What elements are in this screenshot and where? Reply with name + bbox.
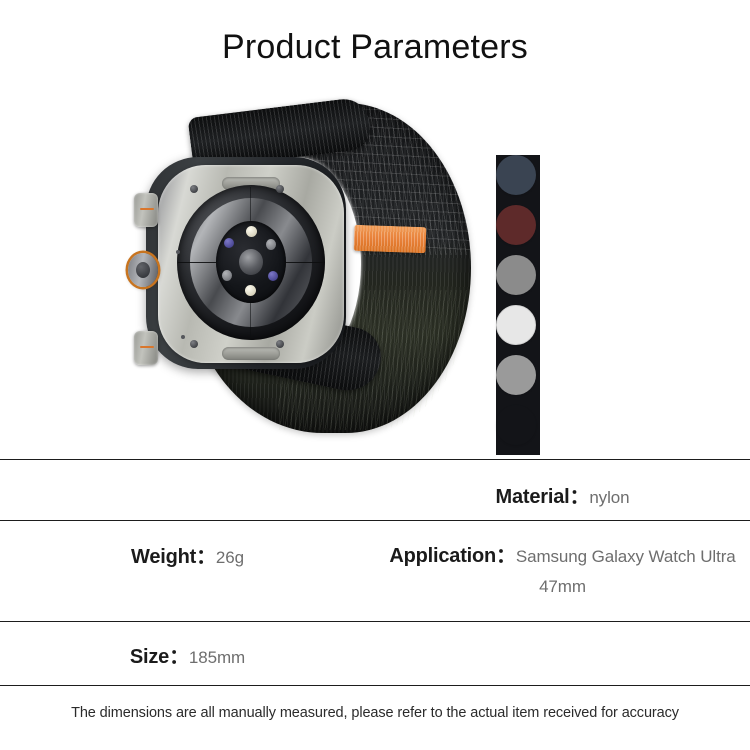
color-swatch-medium-gray[interactable] — [496, 305, 536, 345]
spec-row-size: Size：185mm — [0, 640, 375, 669]
case-screw — [190, 340, 198, 348]
case-pinhole — [181, 335, 185, 339]
side-button-bottom — [134, 331, 158, 365]
sensor-led-dot — [222, 270, 232, 281]
spec-label-weight: Weight： — [131, 546, 216, 568]
sensor-led-dot — [268, 271, 278, 281]
sensor-led-dot — [266, 239, 276, 250]
hero-section — [0, 95, 750, 445]
spec-label-material: Material： — [496, 486, 590, 508]
spec-value-weight: 26g — [216, 548, 244, 567]
side-button-accent-line — [140, 208, 154, 210]
case-screw — [276, 185, 284, 193]
sensor-led-dot — [224, 238, 234, 248]
side-button-accent-line — [140, 346, 154, 348]
page-title: Product Parameters — [0, 28, 750, 67]
spec-value-size: 185mm — [189, 648, 245, 667]
spec-row-application: Application：Samsung Galaxy Watch Ultra 4… — [375, 540, 750, 601]
spec-row-material: Material：nylon — [375, 480, 750, 509]
color-swatch-black[interactable] — [496, 155, 536, 195]
spec-label-application: Application： — [389, 545, 516, 567]
sensor-led-dot — [246, 226, 257, 237]
case-screw — [190, 185, 198, 193]
side-button-top — [134, 193, 158, 227]
band-lug-slot-bottom — [222, 347, 280, 360]
color-swatch-list — [496, 155, 540, 455]
color-swatch-navy-slate[interactable] — [496, 205, 536, 245]
spec-row-weight: Weight：26g — [0, 540, 375, 569]
color-swatch-gray[interactable] — [496, 405, 536, 445]
table-divider-bottom — [0, 685, 750, 686]
spec-value-application: Samsung Galaxy Watch Ultra 47mm — [516, 547, 736, 596]
product-parameters-page: Product Parameters — [0, 0, 750, 750]
orange-velcro-pull-tab — [354, 225, 427, 253]
product-image — [128, 95, 478, 445]
table-divider-third — [0, 621, 750, 622]
sensor-center-hub — [239, 249, 263, 275]
spec-label-size: Size： — [130, 646, 189, 668]
color-swatch-dark-maroon[interactable] — [496, 255, 536, 295]
table-divider-second — [0, 520, 750, 521]
color-swatch-off-white[interactable] — [496, 355, 536, 395]
table-divider-top — [0, 459, 750, 460]
spec-value-material: nylon — [589, 488, 629, 507]
case-pinhole — [176, 250, 180, 254]
rotating-crown — [128, 253, 158, 287]
measurement-disclaimer: The dimensions are all manually measured… — [0, 705, 750, 721]
sensor-led-dot — [245, 285, 256, 296]
case-screw — [276, 340, 284, 348]
